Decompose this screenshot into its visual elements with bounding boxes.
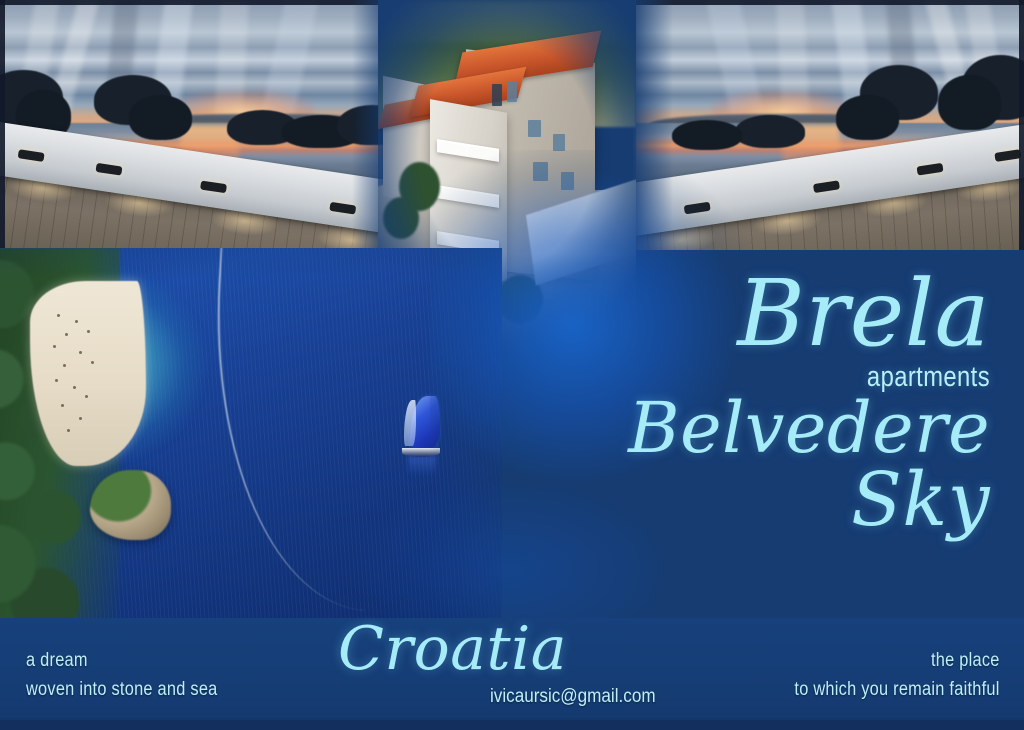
photo-edge-left	[0, 0, 5, 250]
photo-edge-top	[633, 0, 1024, 5]
poster: Brela apartments Belvedere Sky a dream w…	[0, 0, 1024, 730]
brand-name: Brela	[570, 272, 990, 357]
brand-line-sky: Sky	[570, 466, 990, 534]
bottom-banner: a dream woven into stone and sea Croatia…	[0, 618, 1024, 730]
tagline-right: the place to which you remain faithful	[795, 646, 1000, 705]
photo-blue-vignette	[0, 248, 502, 618]
tagline-left-line2: woven into stone and sea	[26, 675, 218, 704]
photo-edge-top	[0, 0, 392, 5]
tagline-right-line2: to which you remain faithful	[795, 675, 1000, 704]
photo-terrace-right	[633, 0, 1024, 250]
photo-brela-beach-and-sea	[0, 248, 502, 618]
country-name: Croatia	[338, 622, 567, 677]
brand-subtitle: apartments	[646, 361, 990, 394]
tagline-left-line1: a dream	[26, 646, 218, 675]
blue-fade-left	[633, 0, 673, 250]
tagline-right-line1: the place	[795, 646, 1000, 675]
brand-line-belvedere: Belvedere	[570, 396, 990, 460]
tagline-left: a dream woven into stone and sea	[26, 646, 218, 705]
contact-email[interactable]: ivicaursic@gmail.com	[490, 686, 656, 708]
title-block: Brela apartments Belvedere Sky	[570, 272, 990, 534]
banner-bottom-strip	[0, 720, 1024, 730]
photo-edge-right	[1019, 0, 1024, 250]
photo-terrace-left	[0, 0, 392, 250]
